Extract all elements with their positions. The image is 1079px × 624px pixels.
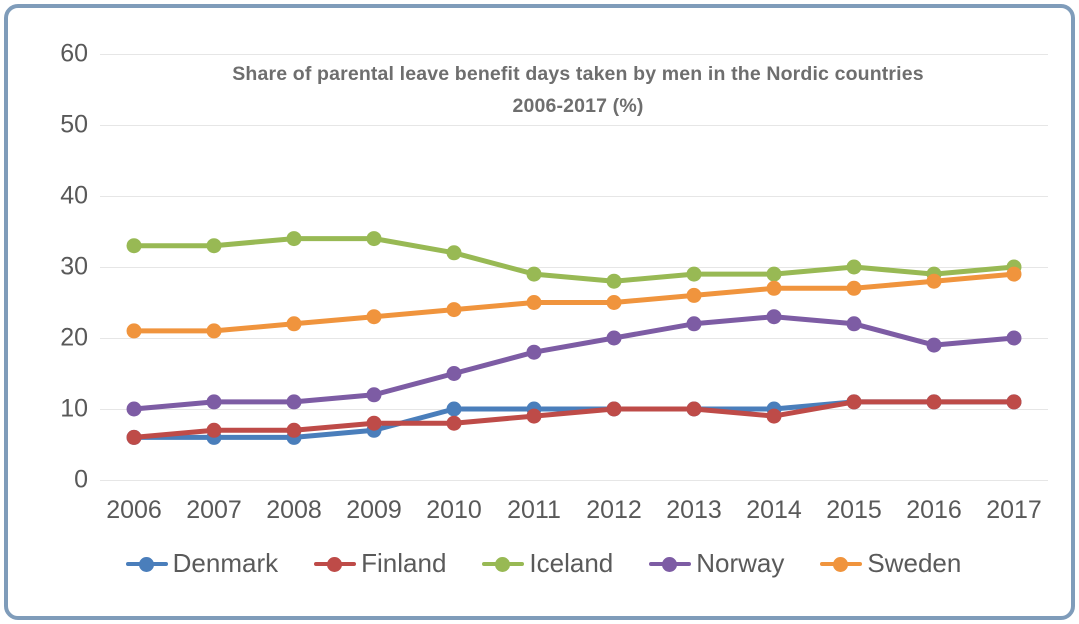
data-point xyxy=(527,267,542,282)
data-point xyxy=(527,345,542,360)
data-point xyxy=(607,331,622,346)
data-point xyxy=(1007,267,1022,282)
legend-item-finland[interactable]: Finland xyxy=(314,548,446,579)
legend-swatch-icon xyxy=(820,553,862,575)
legend-label: Denmark xyxy=(173,548,278,579)
legend-item-norway[interactable]: Norway xyxy=(649,548,784,579)
data-point xyxy=(767,281,782,296)
data-point xyxy=(447,302,462,317)
data-point xyxy=(367,387,382,402)
chart-container: 0102030405060 Share of parental leave be… xyxy=(4,4,1075,620)
x-axis-tick-label: 2013 xyxy=(666,496,722,525)
legend-label: Norway xyxy=(696,548,784,579)
data-point xyxy=(287,394,302,409)
data-point xyxy=(687,288,702,303)
data-point xyxy=(367,309,382,324)
data-point xyxy=(1007,394,1022,409)
x-axis-tick-label: 2010 xyxy=(426,496,482,525)
data-point xyxy=(447,416,462,431)
data-point xyxy=(367,416,382,431)
data-point xyxy=(287,423,302,438)
data-point xyxy=(207,394,222,409)
data-point xyxy=(207,323,222,338)
series-line xyxy=(134,317,1014,409)
series-line xyxy=(134,239,1014,282)
data-point xyxy=(687,267,702,282)
x-axis-tick-label: 2006 xyxy=(106,496,162,525)
legend-swatch-icon xyxy=(482,553,524,575)
data-point xyxy=(767,409,782,424)
legend-swatch-icon xyxy=(126,553,168,575)
data-point xyxy=(207,423,222,438)
data-point xyxy=(367,231,382,246)
series-iceland xyxy=(127,231,1022,289)
data-point xyxy=(767,267,782,282)
data-point xyxy=(847,260,862,275)
data-point xyxy=(847,394,862,409)
x-axis-tick-label: 2015 xyxy=(826,496,882,525)
chart-title-line-2: 2006-2017 (%) xyxy=(118,90,1038,122)
data-point xyxy=(607,295,622,310)
data-point xyxy=(927,338,942,353)
data-point xyxy=(767,309,782,324)
data-point xyxy=(127,238,142,253)
x-axis-tick-label: 2009 xyxy=(346,496,402,525)
data-point xyxy=(847,281,862,296)
data-point xyxy=(447,402,462,417)
x-axis-tick-label: 2016 xyxy=(906,496,962,525)
legend-label: Sweden xyxy=(867,548,961,579)
data-point xyxy=(447,366,462,381)
x-axis-tick-label: 2017 xyxy=(986,496,1042,525)
chart-title-line-1: Share of parental leave benefit days tak… xyxy=(118,58,1038,90)
data-point xyxy=(1007,331,1022,346)
x-axis-tick-label: 2007 xyxy=(186,496,242,525)
legend-item-denmark[interactable]: Denmark xyxy=(126,548,278,579)
x-axis-tick-label: 2008 xyxy=(266,496,322,525)
data-point xyxy=(527,409,542,424)
data-point xyxy=(927,274,942,289)
legend-item-sweden[interactable]: Sweden xyxy=(820,548,961,579)
x-axis-tick-label: 2011 xyxy=(507,496,561,525)
data-point xyxy=(607,402,622,417)
data-point xyxy=(447,245,462,260)
data-point xyxy=(207,238,222,253)
data-point xyxy=(687,316,702,331)
data-point xyxy=(607,274,622,289)
legend-item-iceland[interactable]: Iceland xyxy=(482,548,613,579)
chart-title: Share of parental leave benefit days tak… xyxy=(118,58,1038,122)
data-point xyxy=(527,295,542,310)
legend-swatch-icon xyxy=(314,553,356,575)
legend-label: Iceland xyxy=(529,548,613,579)
data-point xyxy=(287,316,302,331)
data-point xyxy=(287,231,302,246)
x-axis: 2006200720082009201020112012201320142015… xyxy=(100,496,1048,532)
data-point xyxy=(127,402,142,417)
data-point xyxy=(687,402,702,417)
data-point xyxy=(127,323,142,338)
series-line xyxy=(134,274,1014,331)
data-point xyxy=(847,316,862,331)
legend-label: Finland xyxy=(361,548,446,579)
chart-legend: DenmarkFinlandIcelandNorwaySweden xyxy=(8,548,1079,579)
x-axis-tick-label: 2012 xyxy=(586,496,642,525)
data-point xyxy=(127,430,142,445)
x-axis-tick-label: 2014 xyxy=(746,496,802,525)
data-point xyxy=(927,394,942,409)
legend-swatch-icon xyxy=(649,553,691,575)
